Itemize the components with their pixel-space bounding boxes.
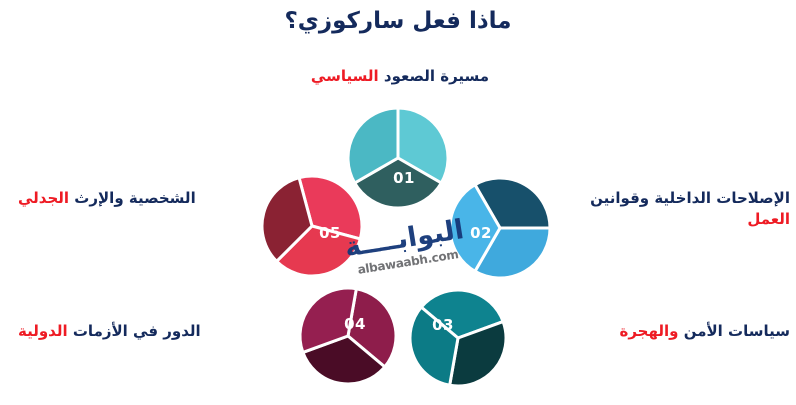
- pie-chart-04[interactable]: [300, 288, 396, 384]
- pie-label-01: مسيرة الصعود السياسي: [262, 66, 538, 87]
- pie-chart-02[interactable]: [450, 178, 550, 278]
- pie-label-04: الدور في الأزمات الدولية: [18, 321, 268, 342]
- page-title: ماذا فعل ساركوزي؟: [0, 6, 796, 36]
- pie-label-02-navy: الإصلاحات الداخلية وقوانين: [590, 189, 790, 207]
- pie-label-02-red: العمل: [747, 210, 790, 228]
- pie-label-03-navy: سياسات الأمن: [684, 322, 790, 340]
- pie-chart-05[interactable]: [262, 176, 362, 276]
- pie-label-03: سياسات الأمن والهجرة: [548, 321, 790, 342]
- pie-label-01-red: السياسي: [311, 67, 379, 85]
- pie-label-02: الإصلاحات الداخلية وقوانين العمل: [548, 188, 790, 230]
- pie-label-05-red: الجدلي: [18, 189, 69, 207]
- pie-label-05-navy: الشخصية والإرث: [74, 189, 195, 207]
- pie-chart-01[interactable]: [348, 108, 448, 208]
- pie-label-03-red: والهجرة: [619, 322, 678, 340]
- pie-label-04-navy: الدور في الأزمات: [73, 322, 201, 340]
- pie-chart-03[interactable]: [410, 290, 506, 386]
- pie-label-04-red: الدولية: [18, 322, 68, 340]
- pie-label-01-navy: مسيرة الصعود: [384, 67, 489, 85]
- infographic-canvas: ماذا فعل ساركوزي؟ 01 مسيرة الصعود السياس…: [0, 0, 796, 405]
- pie-label-05: الشخصية والإرث الجدلي: [18, 188, 246, 209]
